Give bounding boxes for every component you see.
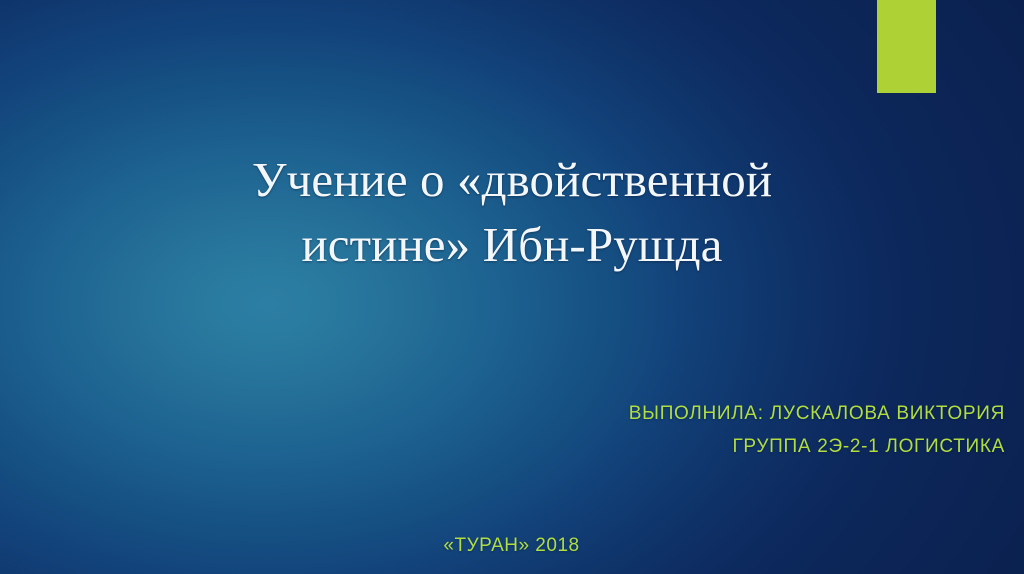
slide-title: Учение о «двойственной истине» Ибн-Рушда: [0, 148, 1024, 277]
slide-footer-block: «ТУРАН» 2018: [0, 535, 1024, 557]
subtitle-author: ВЫПОЛНИЛА: ЛУСКАЛОВА ВИКТОРИЯ: [305, 398, 1005, 431]
slide-title-line-1: Учение о «двойственной: [252, 152, 772, 207]
subtitle-group: ГРУППА 2Э-2-1 ЛОГИСТИКА: [305, 431, 1005, 464]
green-accent-bar: [877, 0, 936, 93]
slide-title-block: Учение о «двойственной истине» Ибн-Рушда: [0, 148, 1024, 277]
slide-title-line-2: истине» Ибн-Рушда: [301, 217, 722, 272]
slide-subtitle-block: ВЫПОЛНИЛА: ЛУСКАЛОВА ВИКТОРИЯ ГРУППА 2Э-…: [305, 398, 1005, 463]
title-slide: Учение о «двойственной истине» Ибн-Рушда…: [0, 0, 1024, 574]
footer-institution-year: «ТУРАН» 2018: [443, 535, 579, 557]
